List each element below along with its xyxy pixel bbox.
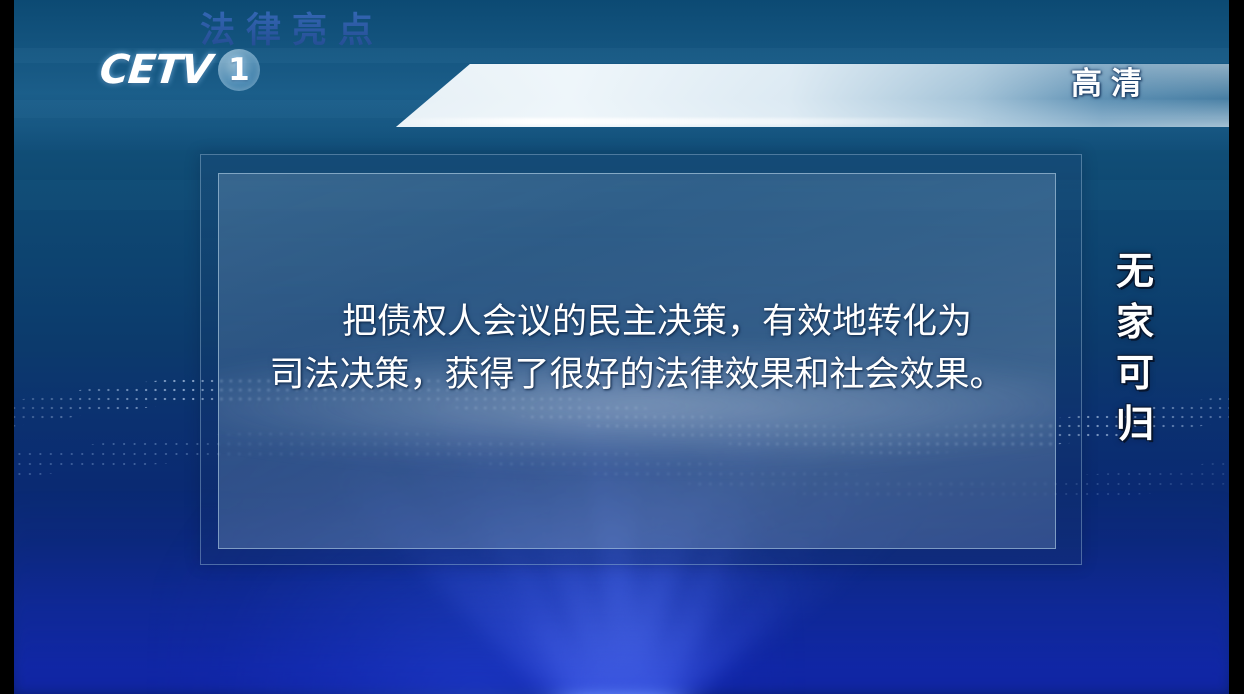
banner-sheen [382, 118, 1229, 125]
hd-badge: 高清 [1071, 58, 1151, 103]
pillarbox-right [1229, 0, 1244, 694]
tv-broadcast-screen: CETV 1 法律亮点 高清 把债权人会议的民主决策，有效地转化为 司法决策，获… [0, 0, 1244, 694]
vertical-title-char-2: 家 [1112, 297, 1158, 348]
video-frame: CETV 1 法律亮点 高清 把债权人会议的民主决策，有效地转化为 司法决策，获… [14, 0, 1229, 694]
caption-panel-outer-frame: 把债权人会议的民主决策，有效地转化为 司法决策，获得了很好的法律效果和社会效果。 [200, 154, 1082, 565]
channel-number-badge: 1 [218, 49, 260, 91]
caption-text-block: 把债权人会议的民主决策，有效地转化为 司法决策，获得了很好的法律效果和社会效果。 [219, 296, 1055, 402]
channel-number-label: 1 [228, 55, 250, 86]
vertical-title-char-4: 归 [1112, 399, 1158, 450]
caption-line-2: 司法决策，获得了很好的法律效果和社会效果。 [241, 349, 1033, 402]
pillarbox-left [0, 0, 14, 694]
caption-panel-inner: 把债权人会议的民主决策，有效地转化为 司法决策，获得了很好的法律效果和社会效果。 [218, 173, 1056, 549]
channel-wordmark: CETV [98, 50, 213, 90]
channel-logo: CETV 1 [100, 46, 260, 94]
vertical-program-title: 无 家 可 归 [1112, 246, 1158, 450]
vertical-title-char-1: 无 [1112, 246, 1158, 297]
vertical-title-char-3: 可 [1112, 348, 1158, 399]
caption-line-1: 把债权人会议的民主决策，有效地转化为 [241, 296, 1033, 349]
